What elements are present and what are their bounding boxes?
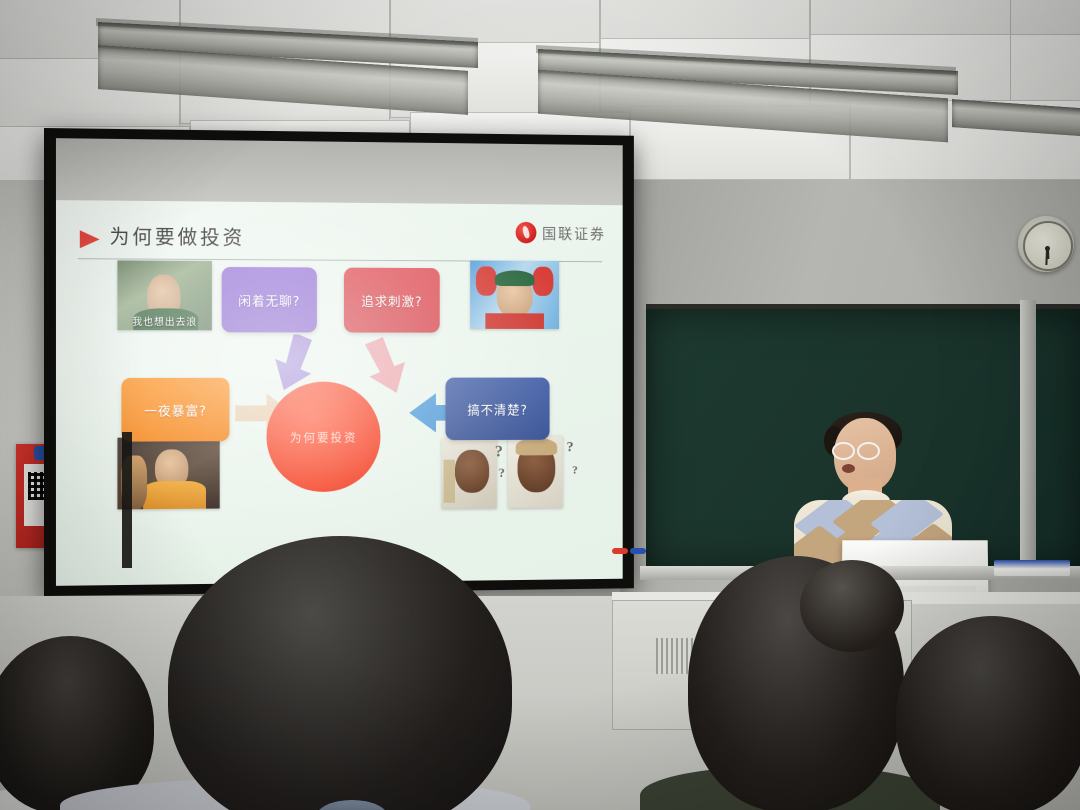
logo-text: 国联证券 xyxy=(542,223,606,244)
center-node: 为何要投资 xyxy=(266,382,380,493)
clock-center-pin xyxy=(1045,246,1050,251)
wall-clock xyxy=(1018,216,1074,272)
photo-bottom-right-a xyxy=(442,438,497,509)
company-logo: 国联证券 xyxy=(516,222,606,244)
flame-emblem-icon xyxy=(516,222,537,244)
projection-screen: 为何要做投资 国联证券 我也想出去浪 xyxy=(44,128,634,596)
marker-red xyxy=(612,548,628,554)
presentation-slide: 为何要做投资 国联证券 我也想出去浪 xyxy=(56,200,623,586)
photo-caption-top-left: 我也想出去浪 xyxy=(117,313,211,328)
lecture-hall-photo: 为何要做投资 国联证券 我也想出去浪 xyxy=(0,0,1080,810)
question-mark-icon-4: ? xyxy=(572,463,578,478)
question-mark-icon-3: ? xyxy=(567,440,574,457)
triangle-bullet-icon xyxy=(80,230,100,248)
audience-head-far-right xyxy=(896,616,1080,810)
slide-title: 为何要做投资 xyxy=(110,221,246,251)
photo-top-left: 我也想出去浪 xyxy=(117,260,211,330)
question-mark-icon-1: ? xyxy=(495,442,503,462)
chalkboard-right-edge xyxy=(1020,300,1036,568)
photo-top-right xyxy=(470,260,559,328)
photo-bottom-left xyxy=(117,437,219,509)
glasses-icon xyxy=(832,442,878,456)
clock-face xyxy=(1023,221,1073,271)
arrow-from-red xyxy=(361,334,419,397)
node-box-1: 闲着无聊? xyxy=(222,267,317,333)
node-box-2: 追求刺激? xyxy=(344,268,440,333)
screen-surface: 为何要做投资 国联证券 我也想出去浪 xyxy=(56,138,623,586)
node-box-4: 搞不清楚? xyxy=(445,378,549,441)
audience-hair-bun xyxy=(800,560,904,652)
blue-book xyxy=(994,560,1070,576)
node-box-3: 一夜暴富? xyxy=(121,378,229,442)
photo-bottom-right-b xyxy=(508,436,563,508)
presenter-mouth xyxy=(842,464,855,473)
marker-blue xyxy=(630,548,646,554)
question-mark-icon-2: ? xyxy=(499,465,505,481)
screen-unlit-band xyxy=(56,138,623,205)
screen-side-shadow xyxy=(122,432,132,568)
